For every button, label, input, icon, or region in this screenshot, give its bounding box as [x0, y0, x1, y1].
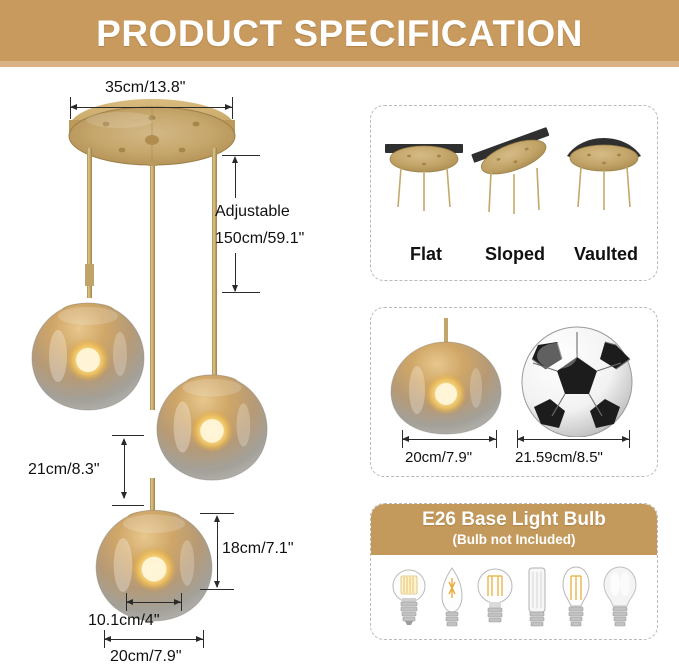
canopy [69, 99, 235, 165]
mount-label-flat: Flat [387, 244, 465, 265]
mounting-illustrations [371, 112, 657, 244]
edison-st64-bulb-icon [559, 564, 593, 630]
e26-title: E26 Base Light Bulb [371, 510, 657, 531]
mount-label-vaulted: Vaulted [564, 244, 648, 265]
pendant-globe-bottom [96, 510, 212, 621]
e26-subtitle: (Bulb not Included) [371, 532, 657, 548]
mount-label-sloped: Sloped [474, 244, 556, 265]
sloped-ceiling-icon [471, 127, 556, 214]
candle-flame-bulb-icon [437, 564, 467, 630]
pendant-globe-left [32, 303, 144, 410]
size-comparison-panel: 20cm/7.9" 21.59cm/8.5" [370, 307, 658, 477]
compare-label-pendant: 20cm/7.9" [405, 449, 472, 466]
flat-ceiling-icon [385, 144, 463, 211]
header-accent-strip [0, 61, 679, 67]
e26-header: E26 Base Light Bulb (Bulb not Included) [371, 504, 657, 555]
product-specification-page: PRODUCT SPECIFICATION [0, 0, 679, 668]
compare-label-ball: 21.59cm/8.5" [515, 449, 603, 466]
globe-g25-bulb-icon [476, 564, 514, 630]
vaulted-ceiling-icon [567, 138, 641, 210]
header-banner: PRODUCT SPECIFICATION [0, 0, 679, 66]
tubular-t-bulb-icon [524, 564, 550, 630]
led-corn-bulb-icon [390, 564, 428, 630]
mounting-types-panel: Flat Sloped Vaulted [370, 105, 658, 281]
e26-bulb-panel: E26 Base Light Bulb (Bulb not Included) [370, 503, 658, 640]
bulb-type-row [371, 562, 657, 634]
frosted-a19-bulb-icon [602, 564, 638, 630]
pendant-globe-right [157, 375, 267, 480]
chandelier-diagram [0, 68, 360, 668]
soccer-ball-icon [522, 327, 632, 437]
page-title: PRODUCT SPECIFICATION [96, 15, 583, 52]
size-comparison-illustrations [371, 312, 657, 437]
pendant-globe-compare-icon [391, 318, 501, 434]
